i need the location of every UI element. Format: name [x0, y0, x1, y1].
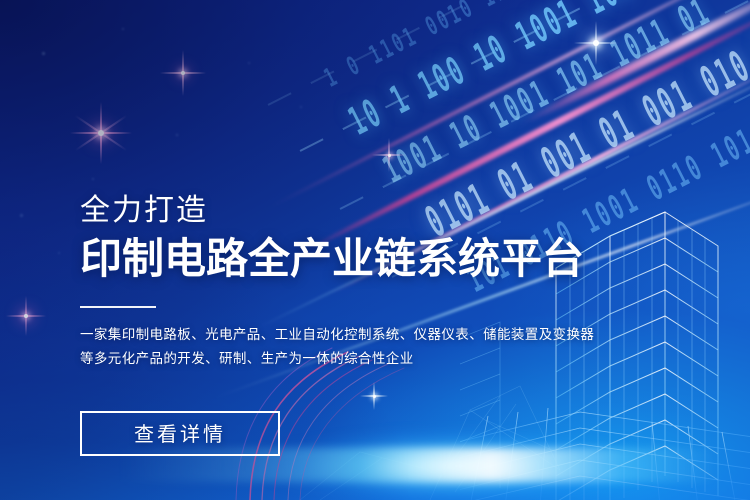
subtitle-line-2: 等多元化产品的开发、研制、生产为一体的综合性企业 [80, 347, 640, 371]
divider-rule [80, 306, 156, 308]
page-title: 印制电路全产业链系统平台 [80, 237, 640, 282]
eyebrow-text: 全力打造 [80, 196, 640, 226]
subtitle-line-1: 一家集印制电路板、光电产品、工业自动化控制系统、仪器仪表、储能装置及变换器 [80, 323, 640, 347]
hero-banner: 1 0 1101 0010 1101 01 10 1 100 10 1001 1… [0, 0, 750, 500]
hero-content: 全力打造 印制电路全产业链系统平台 一家集印制电路板、光电产品、工业自动化控制系… [80, 196, 640, 456]
view-details-button[interactable]: 查看详情 [80, 411, 280, 456]
subtitle-text: 一家集印制电路板、光电产品、工业自动化控制系统、仪器仪表、储能装置及变换器 等多… [80, 323, 640, 371]
